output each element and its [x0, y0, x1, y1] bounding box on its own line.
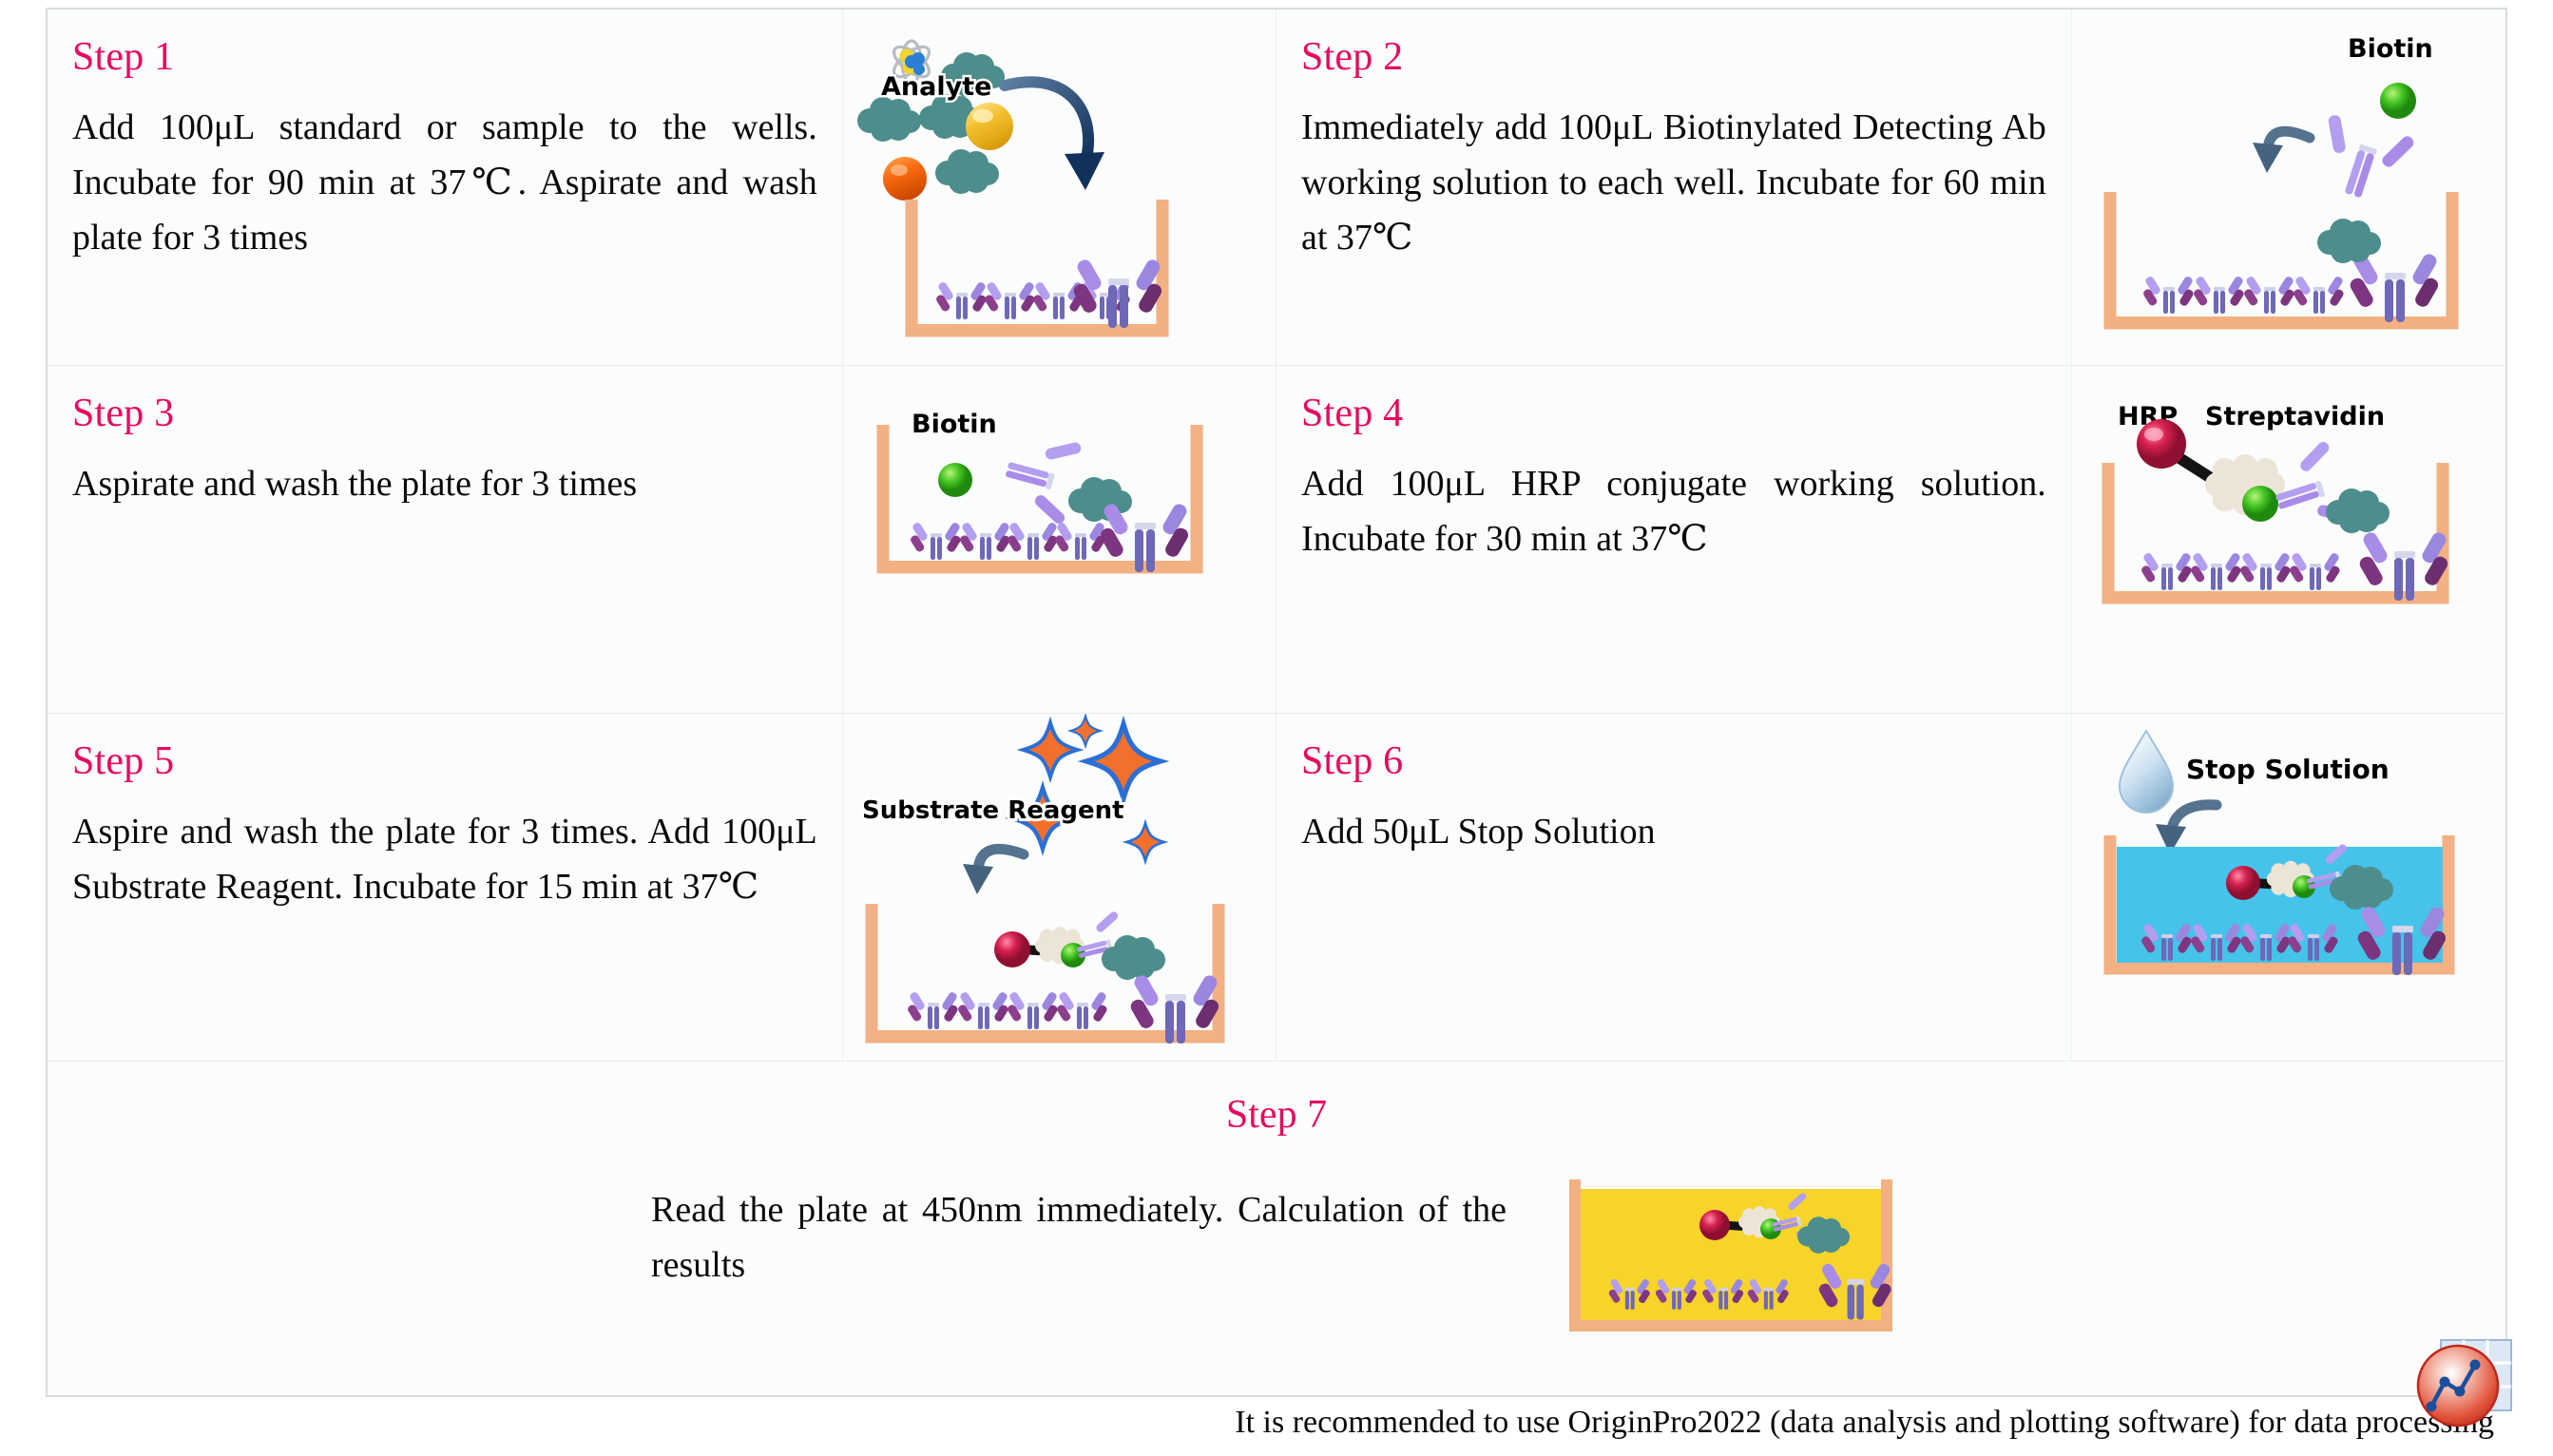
step-6-illustration-cell: Stop Solution: [2072, 714, 2505, 1061]
step-3-body: Aspirate and wash the plate for 3 times: [72, 457, 817, 512]
protocol-row-1: Step 1 Add 100μL standard or sample to t…: [48, 10, 2505, 366]
step-2-illustration: Biotin: [2072, 10, 2505, 364]
step-5-body: Aspire and wash the plate for 3 times. A…: [72, 805, 817, 915]
yellow-sphere: [966, 103, 1013, 150]
step-6-title: Step 6: [1301, 740, 2046, 782]
step-7-title: Step 7: [48, 1092, 2505, 1138]
step-7-body: Read the plate at 450nm immediately. Cal…: [651, 1166, 1507, 1293]
capture-antibody: [909, 522, 1105, 560]
protocol-row-4: Step 7 Read the plate at 450nm immediate…: [48, 1062, 2505, 1395]
footer-note: It is recommended to use OriginPro2022 (…: [1235, 1405, 2507, 1441]
analyte-label: Analyte: [881, 72, 991, 102]
capture-antibody: [2140, 552, 2340, 590]
biotinylated-detecting-antibody: [996, 425, 1086, 527]
step-5-illustration: Substrate Reagent: [843, 714, 1276, 1060]
step-1-body: Add 100μL standard or sample to the well…: [72, 101, 817, 265]
curved-arrow-icon: [1005, 82, 1104, 190]
biotin-label: Biotin: [2348, 34, 2433, 64]
step-7-illustration: [1560, 1166, 1902, 1347]
step-1-text-cell: Step 1 Add 100μL standard or sample to t…: [48, 10, 843, 365]
microplate-well: [2104, 192, 2458, 329]
stop-solution-label: Stop Solution: [2186, 754, 2390, 785]
step-4-text-cell: Step 4 Add 100μL HRP conjugate working s…: [1276, 366, 2072, 713]
protocol-row-2: Step 3 Aspirate and wash the plate for 3…: [48, 366, 2505, 714]
originpro-logo-icon: [2416, 1336, 2515, 1435]
curved-arrow-icon: [2253, 131, 2310, 173]
capture-antibody-large: [2357, 530, 2449, 601]
step-3-text-cell: Step 3 Aspirate and wash the plate for 3…: [48, 366, 843, 713]
step-5-title: Step 5: [72, 740, 817, 782]
orange-sphere: [883, 157, 927, 201]
step-1-title: Step 1: [72, 36, 817, 78]
capture-antibody: [906, 991, 1107, 1029]
biotin-molecule: [2242, 486, 2278, 522]
step-3-illustration-cell: Biotin: [843, 366, 1276, 713]
elisa-protocol-sheet: Step 1 Add 100μL standard or sample to t…: [0, 0, 2553, 1456]
step-4-body: Add 100μL HRP conjugate working solution…: [1301, 457, 2046, 567]
bound-analyte: [1102, 935, 1165, 980]
bound-analyte: [2317, 219, 2381, 263]
step-7-cell: Step 7 Read the plate at 450nm immediate…: [48, 1062, 2505, 1395]
step-2-body: Immediately add 100μL Biotinylated Detec…: [1301, 101, 2046, 265]
microplate-well: [1569, 1179, 1892, 1331]
capture-antibody: [934, 281, 1130, 319]
step-4-title: Step 4: [1301, 393, 2046, 434]
curved-arrow-icon: [963, 849, 1024, 894]
biotinylated-detecting-antibody: [2307, 109, 2418, 209]
step-1-illustration: Analyte: [843, 10, 1276, 364]
substrate-reagent-label: Substrate Reagent: [862, 796, 1124, 825]
step-1-illustration-cell: Analyte: [843, 10, 1276, 365]
step-2-title: Step 2: [1301, 36, 2046, 78]
capture-antibody-large: [2348, 252, 2440, 322]
bound-analyte: [2326, 489, 2390, 533]
step-3-title: Step 3: [72, 393, 817, 434]
protocol-row-3: Step 5 Aspire and wash the plate for 3 t…: [48, 714, 2505, 1062]
step-5-text-cell: Step 5 Aspire and wash the plate for 3 t…: [48, 714, 843, 1061]
biotin-label: Biotin: [912, 410, 997, 439]
streptavidin-label: Streptavidin: [2205, 402, 2385, 431]
biotin-molecule: [938, 463, 972, 497]
step-4-illustration: HRP Streptavidin: [2072, 366, 2505, 712]
biotin-molecule: [2380, 83, 2416, 119]
step-2-text-cell: Step 2 Immediately add 100μL Biotinylate…: [1276, 10, 2072, 365]
step-5-illustration-cell: Substrate Reagent: [843, 714, 1276, 1061]
bound-analyte: [1068, 477, 1132, 522]
step-3-illustration: Biotin: [843, 366, 1276, 712]
step-6-text-cell: Step 6 Add 50μL Stop Solution: [1276, 714, 2072, 1061]
step-6-body: Add 50μL Stop Solution: [1301, 805, 2046, 860]
footer: It is recommended to use OriginPro2022 (…: [46, 1405, 2507, 1441]
capture-antibody: [2141, 276, 2344, 314]
sparkle-icon: [1011, 716, 1163, 860]
step-6-illustration: Stop Solution: [2072, 714, 2505, 1060]
step-4-illustration-cell: HRP Streptavidin: [2072, 366, 2505, 713]
microplate-well: [2104, 835, 2454, 974]
water-drop-icon: [2120, 731, 2173, 813]
microplate-well: [906, 200, 1168, 336]
protocol-grid: Step 1 Add 100μL standard or sample to t…: [46, 8, 2507, 1397]
step-7-illustration-cell: [1560, 1166, 1902, 1347]
step-2-illustration-cell: Biotin: [2072, 10, 2505, 365]
